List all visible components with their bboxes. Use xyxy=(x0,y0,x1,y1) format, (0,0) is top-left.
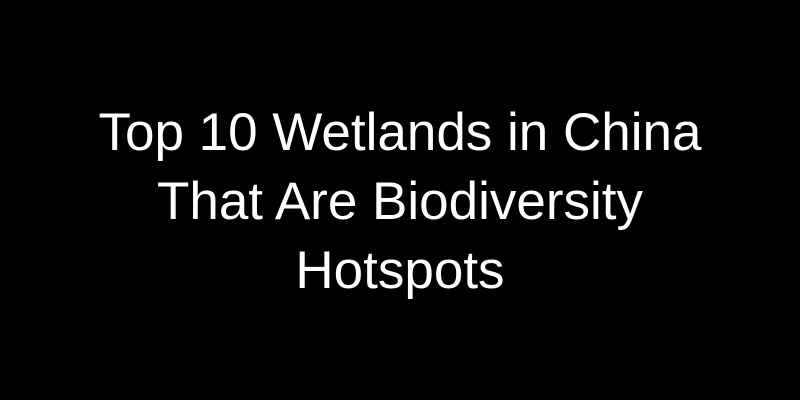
headline-block: Top 10 Wetlands in China That Are Biodiv… xyxy=(0,98,800,305)
page-title: Top 10 Wetlands in China That Are Biodiv… xyxy=(98,98,701,305)
title-card-canvas: Top 10 Wetlands in China That Are Biodiv… xyxy=(0,0,800,400)
headline-line-1: Top 10 Wetlands in China xyxy=(98,98,701,167)
headline-line-3: Hotspots xyxy=(98,236,701,305)
headline-line-2: That Are Biodiversity xyxy=(98,167,701,236)
